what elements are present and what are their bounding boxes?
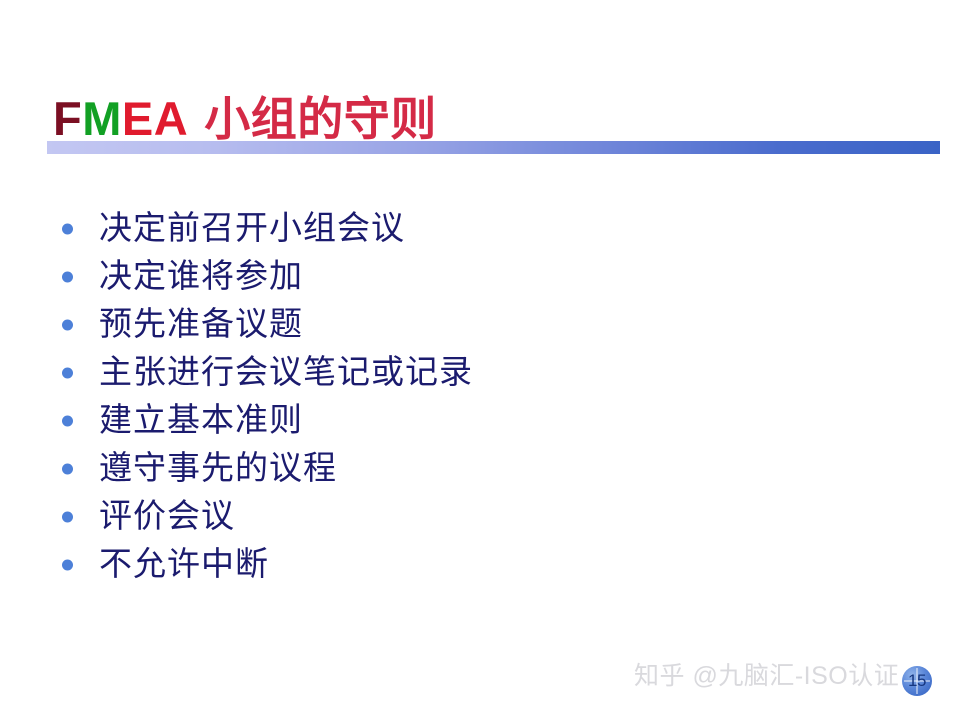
title-letter-e: E: [122, 92, 154, 145]
bullet-dot-icon: [62, 512, 73, 523]
title-letter-f: F: [53, 92, 82, 145]
page-title: FMEA小组的守则: [53, 93, 437, 146]
list-item: 建立基本准则: [52, 397, 912, 445]
bullet-dot-icon: [62, 560, 73, 571]
page-number-badge: 15: [902, 666, 932, 696]
title-letter-m: M: [82, 92, 122, 145]
list-item-label: 决定谁将参加: [99, 261, 303, 294]
list-item: 不允许中断: [52, 541, 912, 589]
list-item: 预先准备议题: [52, 301, 912, 349]
watermark-text: 知乎 @九脑汇-ISO认证: [634, 663, 899, 691]
list-item-label: 主张进行会议笔记或记录: [99, 357, 473, 390]
list-item: 决定谁将参加: [52, 253, 912, 301]
list-item-label: 评价会议: [99, 501, 235, 534]
bullet-dot-icon: [62, 320, 73, 331]
bullet-dot-icon: [62, 272, 73, 283]
presentation-slide: FMEA小组的守则 决定前召开小组会议 决定谁将参加 预先准备议题 主张进行会议…: [0, 0, 960, 720]
page-number-label: 15: [902, 666, 932, 696]
list-item-label: 不允许中断: [99, 549, 269, 582]
title-divider: [47, 141, 940, 154]
title-letter-a: A: [154, 92, 188, 145]
bullet-dot-icon: [62, 416, 73, 427]
list-item-label: 决定前召开小组会议: [99, 213, 405, 246]
bullet-list: 决定前召开小组会议 决定谁将参加 预先准备议题 主张进行会议笔记或记录 建立基本…: [52, 205, 912, 589]
list-item: 遵守事先的议程: [52, 445, 912, 493]
list-item-label: 遵守事先的议程: [99, 453, 337, 486]
list-item-label: 建立基本准则: [99, 405, 303, 438]
title-chinese-text: 小组的守则: [188, 94, 437, 145]
bullet-dot-icon: [62, 224, 73, 235]
list-item-label: 预先准备议题: [99, 309, 303, 342]
bullet-dot-icon: [62, 464, 73, 475]
list-item: 主张进行会议笔记或记录: [52, 349, 912, 397]
list-item: 决定前召开小组会议: [52, 205, 912, 253]
bullet-dot-icon: [62, 368, 73, 379]
list-item: 评价会议: [52, 493, 912, 541]
